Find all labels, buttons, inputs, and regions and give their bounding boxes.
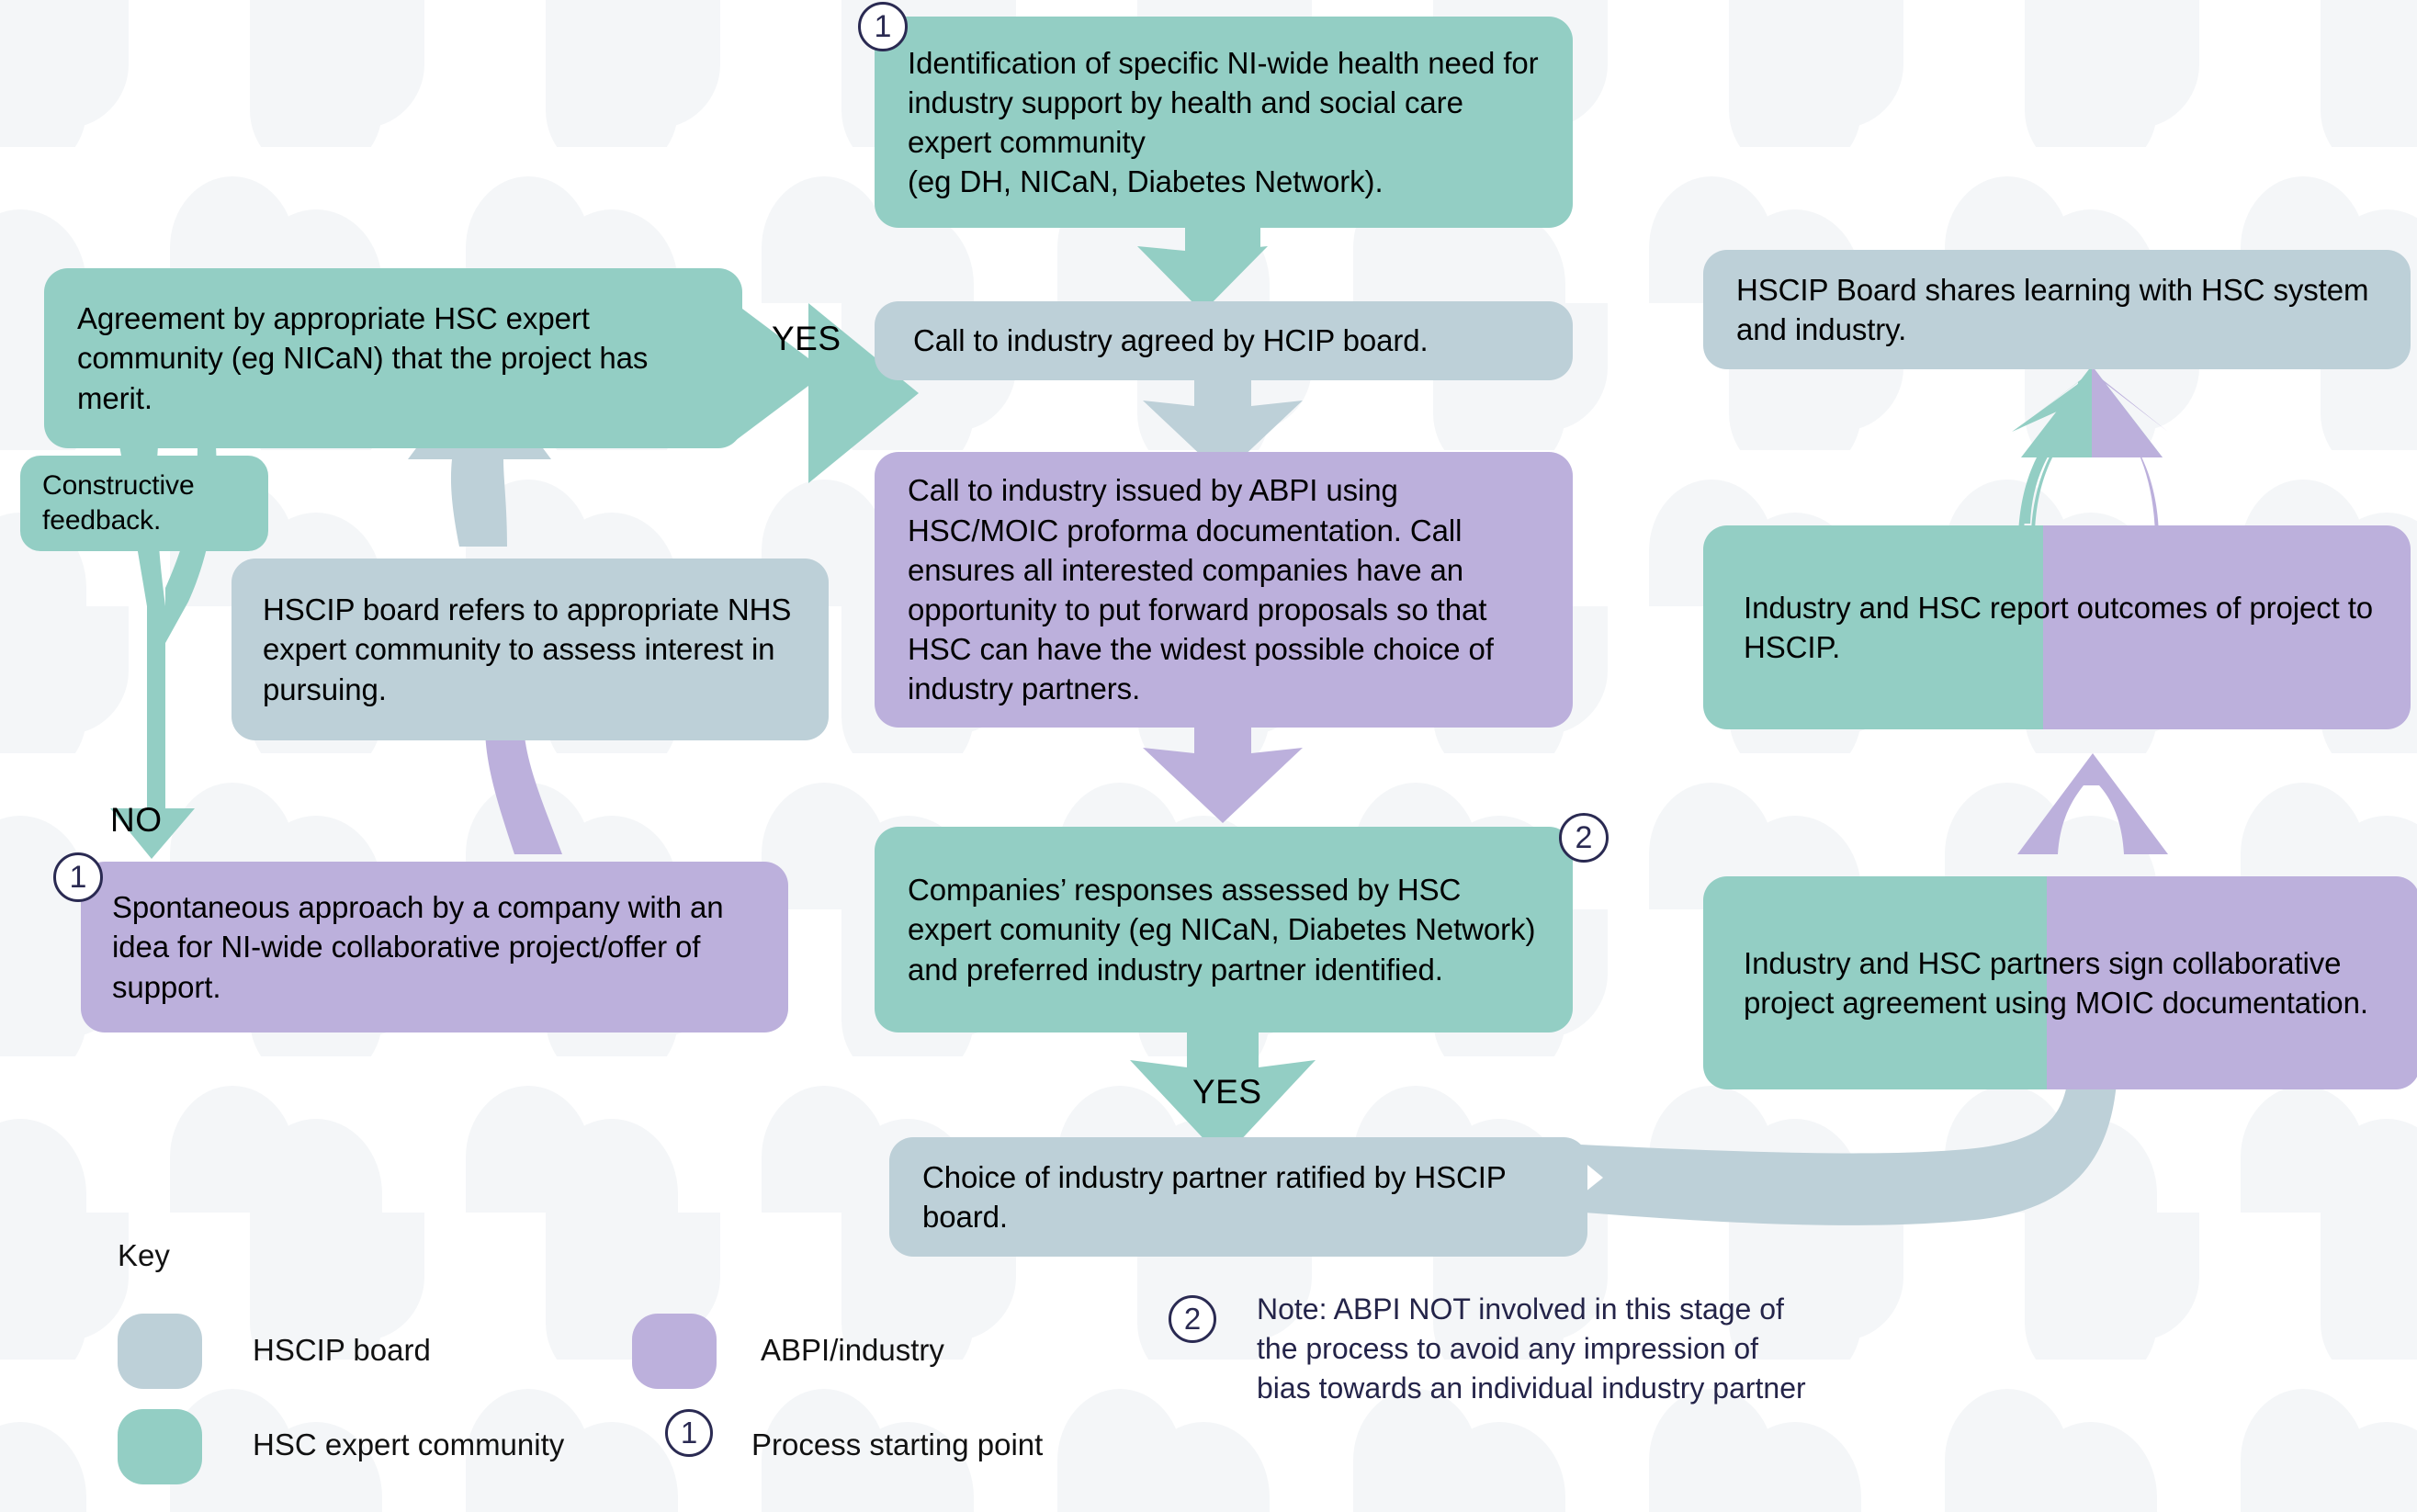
edge-label-no-left: NO (110, 801, 163, 840)
legend-label-abpi-industry: ABPI/industry (761, 1333, 944, 1368)
start-marker-spontaneous: 1 (53, 852, 103, 902)
legend-label-hsc-expert-community: HSC expert community (253, 1427, 564, 1462)
flowchart-canvas: 1 1 2 YES NO YES Identification of speci… (0, 0, 2417, 1512)
legend-swatch-abpi-industry (632, 1314, 717, 1389)
legend-marker-2: 2 (1169, 1295, 1216, 1343)
legend-title: Key (118, 1238, 170, 1273)
start-marker-identification: 1 (858, 2, 908, 51)
legend-label-process-starting-point: Process starting point (751, 1427, 1043, 1462)
note-marker-responses: 2 (1559, 813, 1609, 863)
legend-marker-1: 1 (665, 1409, 713, 1457)
legend-swatch-hscip-board (118, 1314, 202, 1389)
edge-label-yes-center: YES (1192, 1073, 1262, 1111)
legend-note-abpi-not-involved: Note: ABPI NOT involved in this stage of… (1257, 1290, 1808, 1409)
edge-label-yes-left: YES (772, 320, 841, 358)
legend-label-hscip-board: HSCIP board (253, 1333, 431, 1368)
legend-swatch-hsc-expert-community (118, 1409, 202, 1484)
legend: Key HSCIP board HSC expert community ABP… (0, 0, 2417, 1512)
